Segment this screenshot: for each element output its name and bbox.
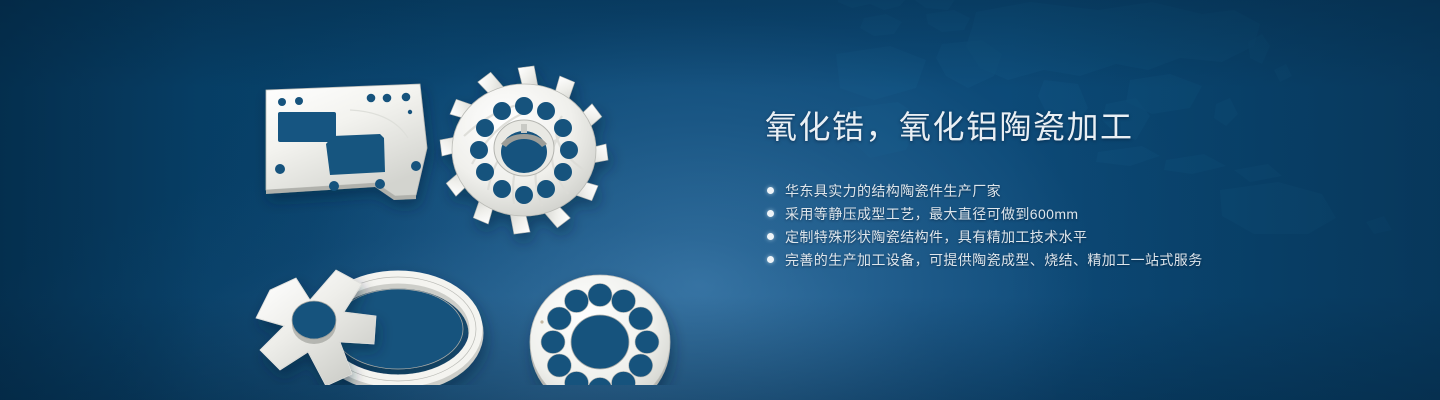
ceramic-valve-plate bbox=[530, 275, 670, 385]
ceramic-bladed-impeller bbox=[440, 66, 608, 234]
feature-text: 定制特殊形状陶瓷结构件，具有精加工技术水平 bbox=[785, 227, 1087, 247]
dot-icon bbox=[767, 256, 774, 263]
feature-text: 完善的生产加工设备，可提供陶瓷成型、烧结、精加工一站式服务 bbox=[785, 250, 1203, 270]
banner-copy: 氧化锆，氧化铝陶瓷加工 华东具实力的结构陶瓷件生产厂家 采用等静压成型工艺，最大… bbox=[765, 108, 1325, 271]
list-item: 定制特殊形状陶瓷结构件，具有精加工技术水平 bbox=[765, 225, 1325, 248]
feature-text: 华东具实力的结构陶瓷件生产厂家 bbox=[785, 181, 1001, 201]
ceramic-mounting-plate bbox=[266, 84, 427, 200]
feature-list: 华东具实力的结构陶瓷件生产厂家 采用等静压成型工艺，最大直径可做到600mm 定… bbox=[765, 179, 1325, 271]
list-item: 采用等静压成型工艺，最大直径可做到600mm bbox=[765, 202, 1325, 225]
dot-icon bbox=[767, 187, 774, 194]
dot-icon bbox=[767, 210, 774, 217]
dot-icon bbox=[767, 233, 774, 240]
list-item: 完善的生产加工设备，可提供陶瓷成型、烧结、精加工一站式服务 bbox=[765, 248, 1325, 271]
list-item: 华东具实力的结构陶瓷件生产厂家 bbox=[765, 179, 1325, 202]
feature-text: 采用等静压成型工艺，最大直径可做到600mm bbox=[785, 204, 1078, 224]
banner-headline: 氧化锆，氧化铝陶瓷加工 bbox=[765, 108, 1325, 146]
product-photo-group bbox=[230, 40, 730, 385]
promo-banner: 氧化锆，氧化铝陶瓷加工 华东具实力的结构陶瓷件生产厂家 采用等静压成型工艺，最大… bbox=[0, 0, 1440, 400]
